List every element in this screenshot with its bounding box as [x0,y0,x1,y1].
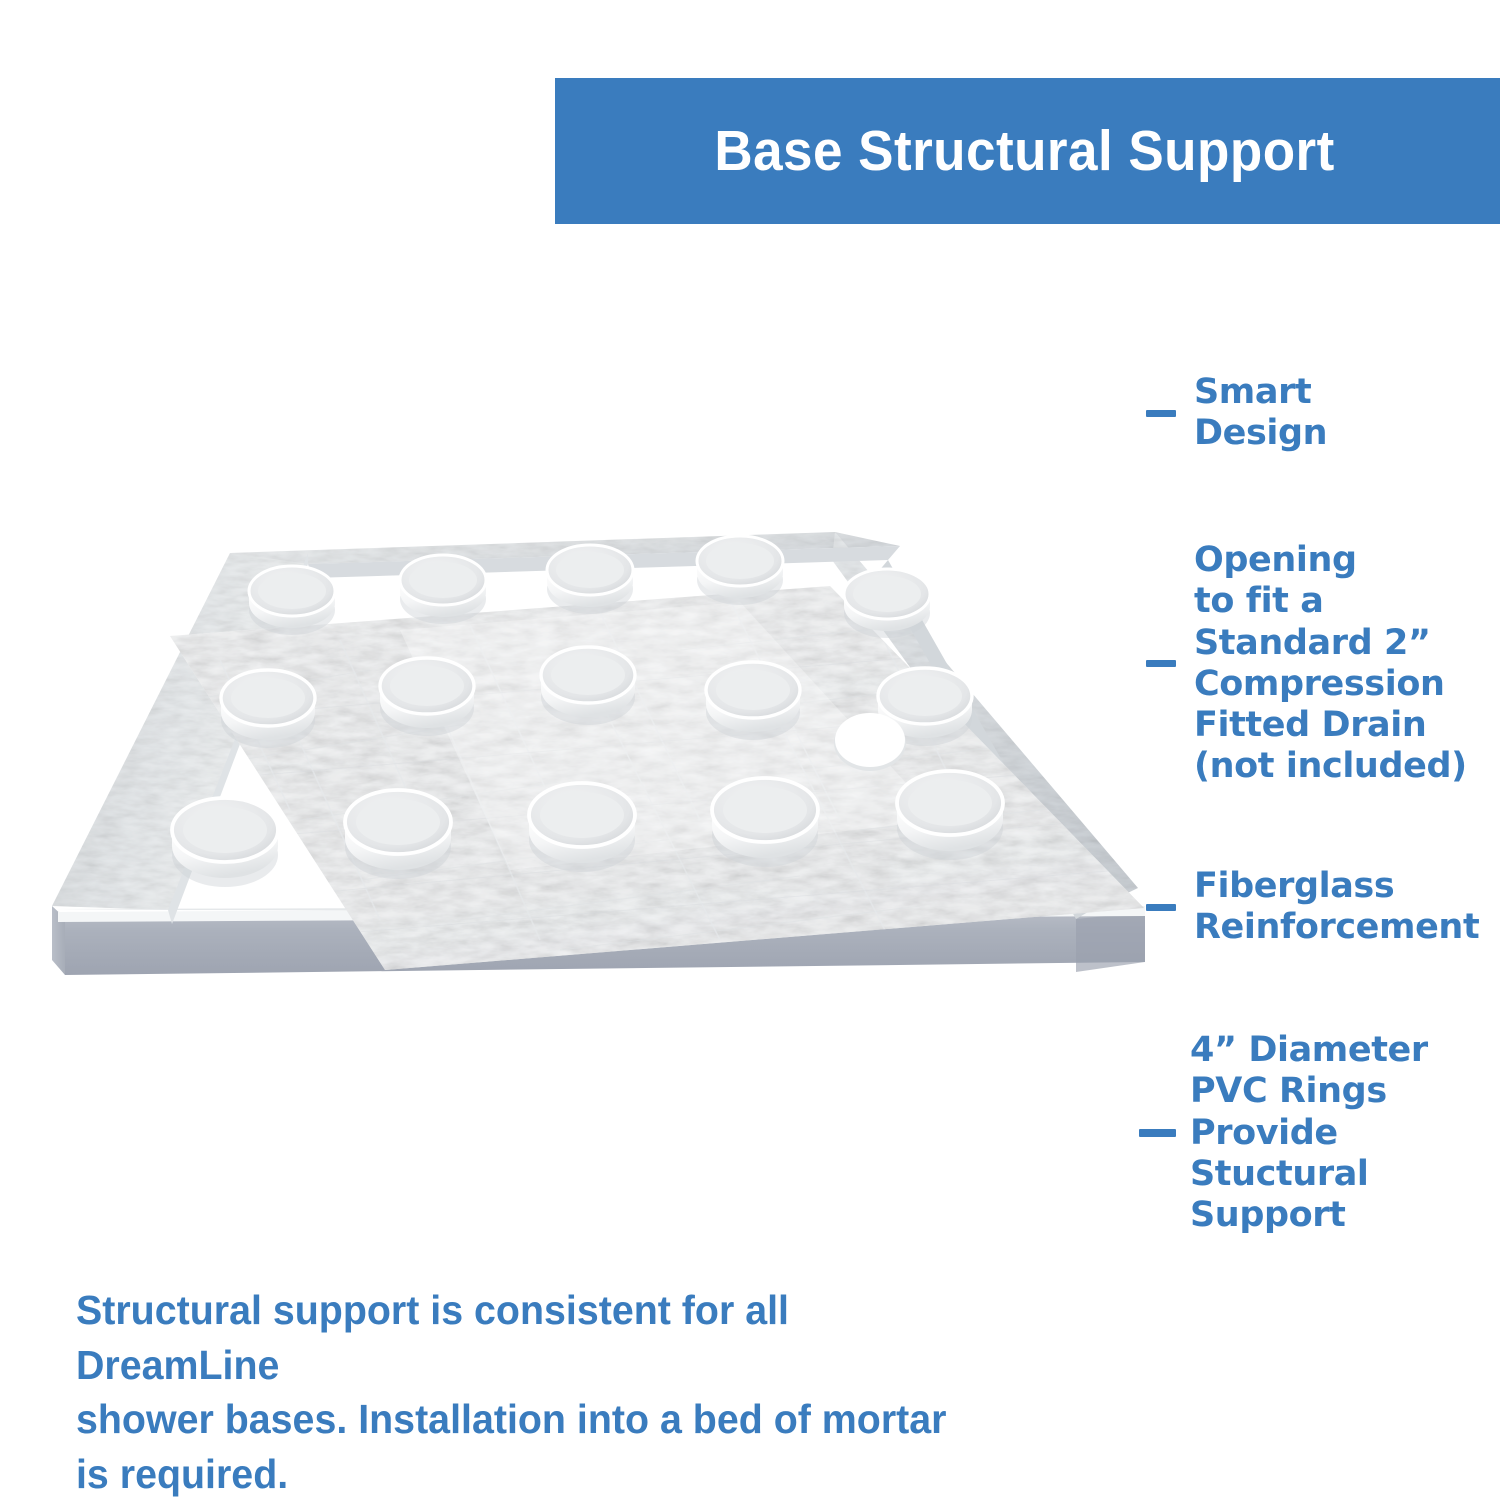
pvc-ring [697,536,783,605]
pvc-ring [172,798,278,887]
pvc-ring [706,662,800,740]
drain-opening [834,713,906,771]
callout-dash-icon [1146,904,1176,911]
pvc-ring [897,771,1003,860]
pvc-ring [221,670,315,748]
product-image [40,520,1180,1010]
callout-drain-opening-label: Opening to fit a Standard 2” Compression… [1194,540,1467,788]
callout-pvc-rings-label: 4” Diameter PVC Rings Provide Stuctural … [1190,1030,1428,1236]
pvc-ring [249,566,335,635]
base-side-wall-right-bevel [1076,912,1145,972]
pvc-ring [529,783,635,872]
callout-fiberglass-reinforcement: Fiberglass Reinforcement [1146,866,1479,949]
page-title: Base Structural Support [714,118,1334,184]
callout-pvc-rings: 4” Diameter PVC Rings Provide Stuctural … [1139,1030,1428,1236]
callout-fiberglass-reinforcement-label: Fiberglass Reinforcement [1194,866,1479,949]
pvc-ring [380,658,474,736]
pvc-ring [541,647,635,725]
pvc-ring [844,569,930,638]
callout-dash-icon [1139,1129,1176,1137]
pvc-ring [712,778,818,867]
pvc-ring [345,790,451,879]
callout-dash-icon [1146,660,1176,667]
shower-base-illustration [40,520,1180,1010]
header-banner: Base Structural Support [555,78,1500,224]
pvc-ring [400,555,486,624]
callout-smart-design: Smart Design [1146,372,1327,455]
callout-dash-icon [1146,410,1176,417]
footer-note: Structural support is consistent for all… [76,1283,998,1501]
callout-smart-design-label: Smart Design [1194,372,1327,455]
pvc-ring [547,545,633,614]
callout-drain-opening: Opening to fit a Standard 2” Compression… [1146,540,1467,788]
